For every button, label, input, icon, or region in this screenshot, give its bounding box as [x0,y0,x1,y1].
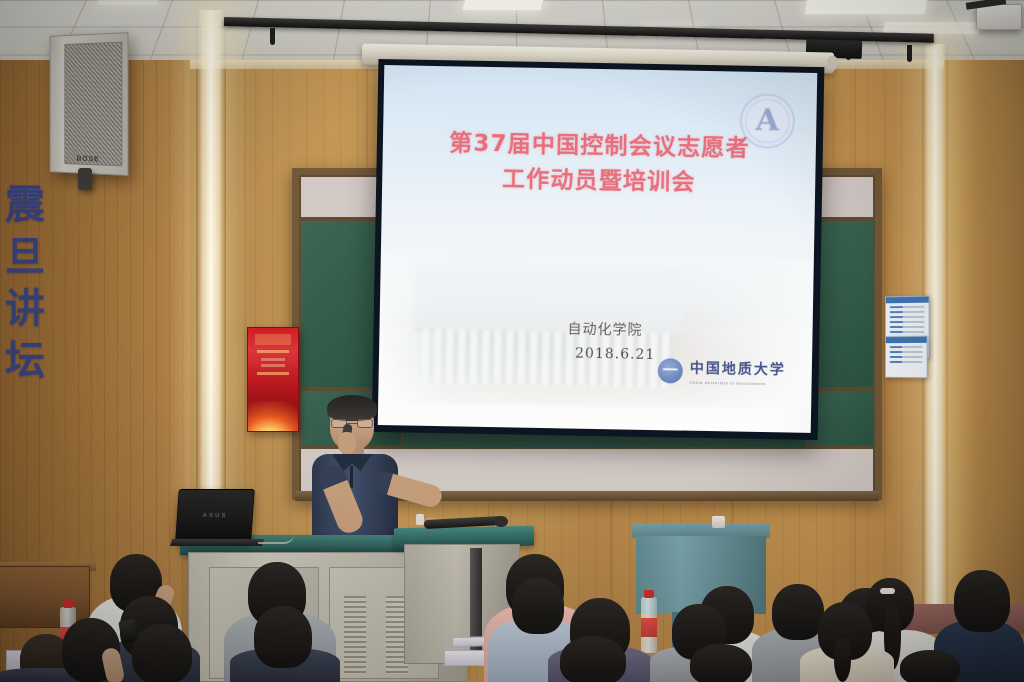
laptop[interactable]: ASUS [175,489,255,541]
audience-head [772,584,824,640]
calligraphy-char: 坛 [5,342,45,380]
poster-text-line [257,372,289,375]
notice-text-line [890,331,925,333]
audience-head [560,636,626,682]
slide-title-line-2: 工作动员暨培训会 [382,160,816,202]
university-logo: 中国地质大学 China University of Geosciences [658,357,786,386]
speaker-grille [64,42,122,167]
ceiling-light [805,0,928,14]
water-bottle [641,597,657,653]
presenter-hand-holding-mic [338,432,356,454]
ceiling-light [97,0,160,5]
bottle-cap [644,590,654,598]
notice-text-line [890,346,923,348]
calligraphy-char: 讲 [5,290,45,328]
projection-screen: A 第37届中国控制会议志愿者 工作动员暨培训会 自动化学院 2018.6.21… [372,59,825,440]
poster-text-line [257,350,289,353]
university-name-zh: 中国地质大学 [690,361,786,379]
notice-text-line [890,311,925,313]
speaker-mount-bracket [78,168,92,190]
notice-text-line [890,356,923,358]
laptop-keyboard-base[interactable] [170,539,264,546]
notice-text-line [890,361,923,363]
rail-hook [907,45,912,62]
paper-cup [712,516,725,528]
red-commemorative-poster [247,327,299,432]
presenter-shirt-placket [350,466,353,488]
side-desk [0,566,90,628]
wall-calligraphy: 震 旦 讲 坛 [0,186,56,380]
speaker-brand-label: BOSE [77,156,100,164]
slide-date: 2018.6.21 [575,346,656,363]
notice-text-line [890,321,925,323]
desk-microphone-head [494,516,508,527]
ponytail [834,638,851,682]
bottle-cap [63,600,73,608]
notice-text-line [890,306,925,308]
projected-slide: A 第37届中国控制会议志愿者 工作动员暨培训会 自动化学院 2018.6.21… [378,65,818,433]
poster-text-line [261,364,285,367]
audience-head [512,578,564,634]
audience-head [900,650,960,682]
notice-text-line [890,326,925,328]
notice-text-line [890,351,923,353]
presenter-hair [327,395,377,421]
slide-subtitle: 自动化学院 [567,318,642,339]
poster-header-band [255,334,291,345]
audience-head [132,624,192,682]
university-logo-mark-icon [658,358,683,383]
notice-header-bar [886,337,927,343]
presenter-wristwatch [416,514,424,525]
cable [258,534,294,544]
poster-sunrise-artwork [247,401,299,432]
calligraphy-char: 震 [5,186,45,224]
audience-head [254,606,312,668]
ceiling-projector [976,4,1022,30]
poster-text-line [261,358,285,361]
slide-title-block: 第37届中国控制会议志愿者 工作动员暨培训会 [382,125,816,202]
campus-building [414,263,684,337]
lecture-hall-photo: 震 旦 讲 坛 BOSE [0,0,1024,682]
wall-notice-sign [885,336,928,379]
laptop-brand-label: ASUS [202,513,227,519]
audience-head [690,644,752,682]
ceiling-light [463,0,544,10]
audience-head [954,570,1010,632]
podium-vent [344,596,366,674]
wall-light-strip [196,10,226,502]
calligraphy-char: 旦 [5,238,45,276]
hair-tie [880,588,895,594]
rail-hook [270,28,275,45]
bottle-label [641,618,657,637]
notice-text-line [890,316,925,318]
wall-speaker: BOSE [50,32,129,176]
notice-header-bar [886,297,929,304]
